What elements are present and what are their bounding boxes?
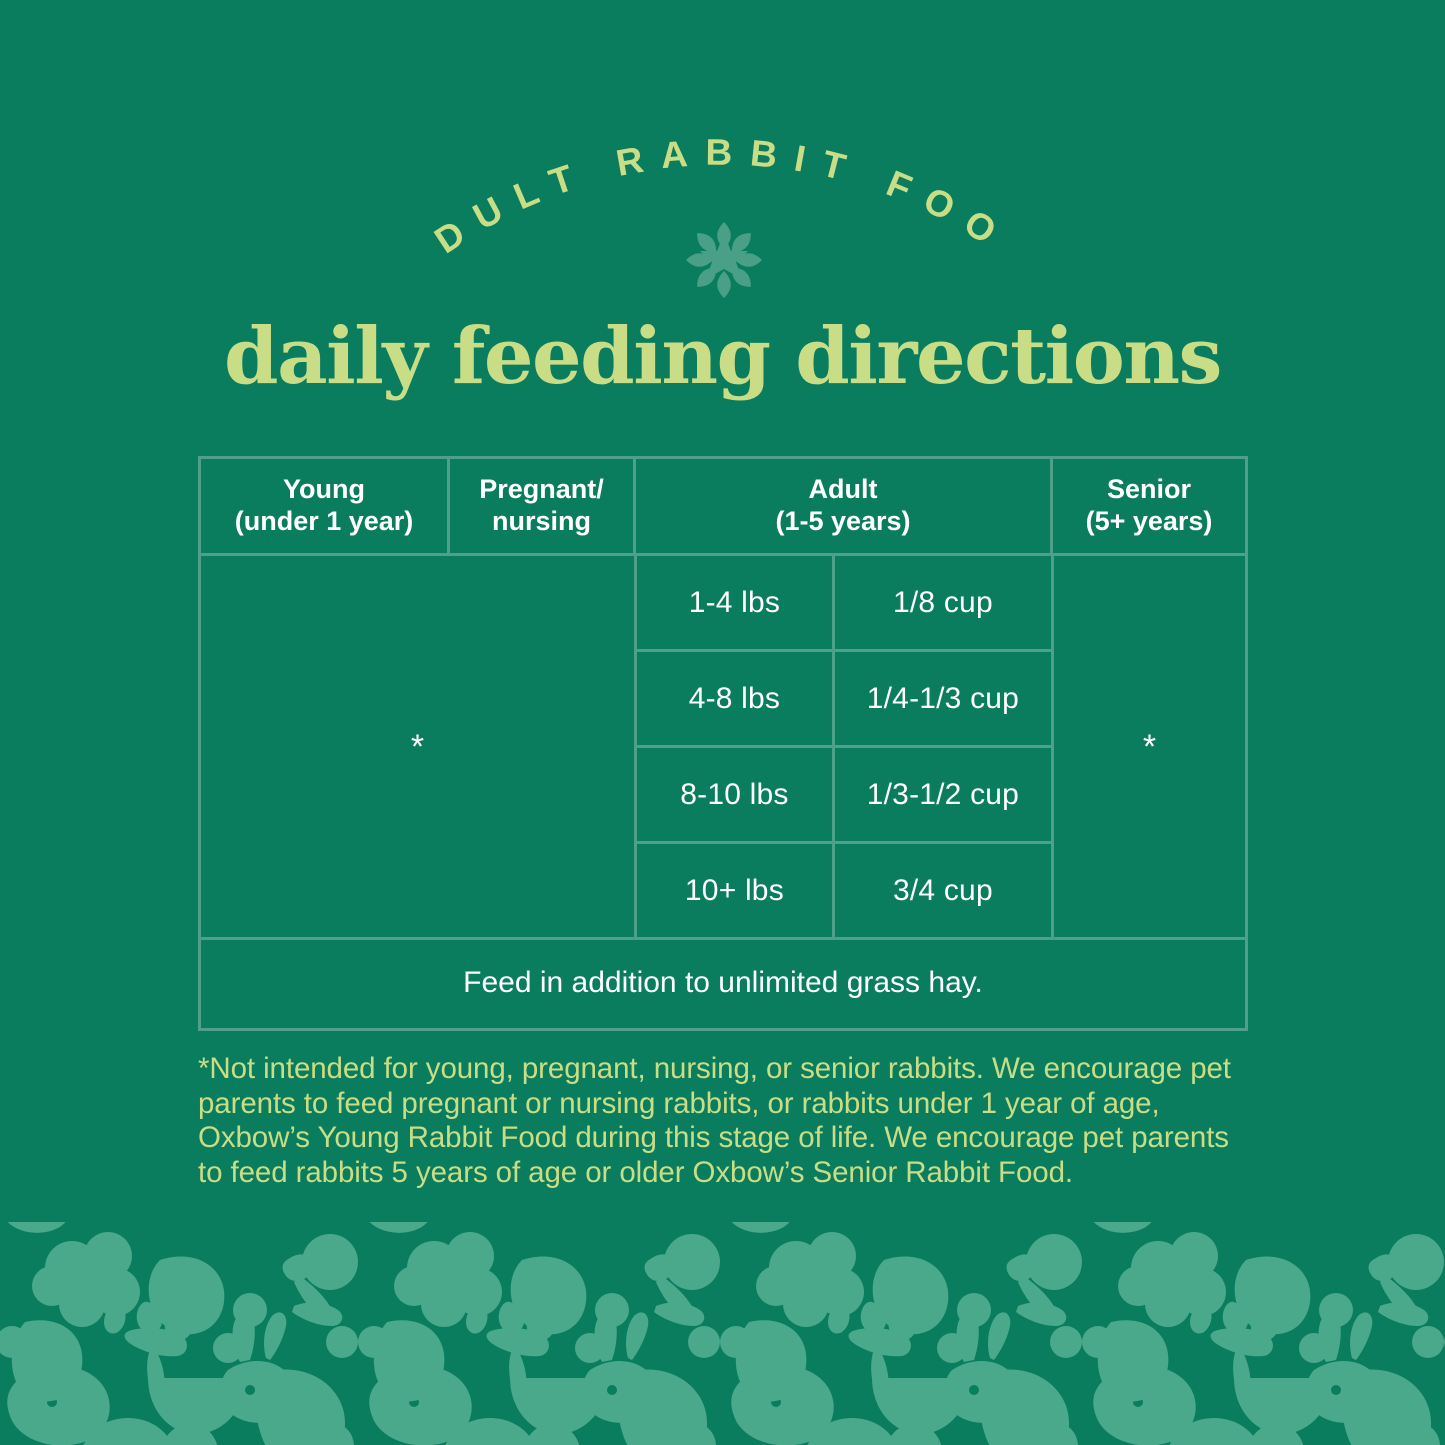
table-row: 10+ lbs 3/4 cup [637, 844, 1051, 937]
adult-subtable: 1-4 lbs 1/8 cup 4-8 lbs 1/4-1/3 cup 8-10… [637, 556, 1054, 937]
header-senior-line1: Senior [1107, 474, 1191, 504]
adult-weight-2: 4-8 lbs [637, 652, 835, 745]
table-body-row: * 1-4 lbs 1/8 cup 4-8 lbs 1/4-1/3 cup 8-… [201, 553, 1245, 940]
table-note-row: Feed in addition to unlimited grass hay. [201, 940, 1245, 1025]
header-pregnant-line2: nursing [492, 506, 591, 536]
adult-amount-1: 1/8 cup [835, 556, 1051, 649]
adult-weight-4: 10+ lbs [637, 844, 835, 937]
header-adult-line2: (1-5 years) [775, 506, 910, 536]
header-adult: Adult (1-5 years) [636, 459, 1053, 553]
table-row: 4-8 lbs 1/4-1/3 cup [637, 652, 1051, 748]
adult-weight-1: 1-4 lbs [637, 556, 835, 649]
botanical-pattern-band [0, 1222, 1445, 1445]
adult-amount-2: 1/4-1/3 cup [835, 652, 1051, 745]
cell-senior: * [1054, 556, 1245, 937]
feeding-directions-table: Young (under 1 year) Pregnant/ nursing A… [198, 456, 1248, 1031]
eyebrow-text: ADULT RABBIT FOOD [0, 92, 1018, 261]
table-header-row: Young (under 1 year) Pregnant/ nursing A… [201, 459, 1245, 553]
asterisk-senior: * [1143, 730, 1156, 764]
table-row: 8-10 lbs 1/3-1/2 cup [637, 748, 1051, 844]
header-young: Young (under 1 year) [201, 459, 450, 553]
page-title: daily feeding directions [0, 318, 1445, 396]
header-adult-line1: Adult [809, 474, 878, 504]
header-pregnant-nursing: Pregnant/ nursing [450, 459, 636, 553]
table-row: 1-4 lbs 1/8 cup [637, 556, 1051, 652]
disclaimer-text: *Not intended for young, pregnant, nursi… [198, 1052, 1250, 1190]
feeding-directions-panel: ADULT RABBIT FOOD [0, 0, 1445, 1445]
cell-young-pregnant-merged: * [201, 556, 637, 937]
adult-amount-3: 1/3-1/2 cup [835, 748, 1051, 841]
header-senior-line2: (5+ years) [1086, 506, 1213, 536]
rosette-flower-icon [680, 216, 768, 304]
header-young-line2: (under 1 year) [235, 506, 414, 536]
asterisk-young-pregnant: * [411, 730, 424, 764]
header-pregnant-line1: Pregnant/ [479, 474, 604, 504]
adult-weight-3: 8-10 lbs [637, 748, 835, 841]
header-senior: Senior (5+ years) [1053, 459, 1245, 553]
adult-amount-4: 3/4 cup [835, 844, 1051, 937]
header-young-line1: Young [283, 474, 365, 504]
